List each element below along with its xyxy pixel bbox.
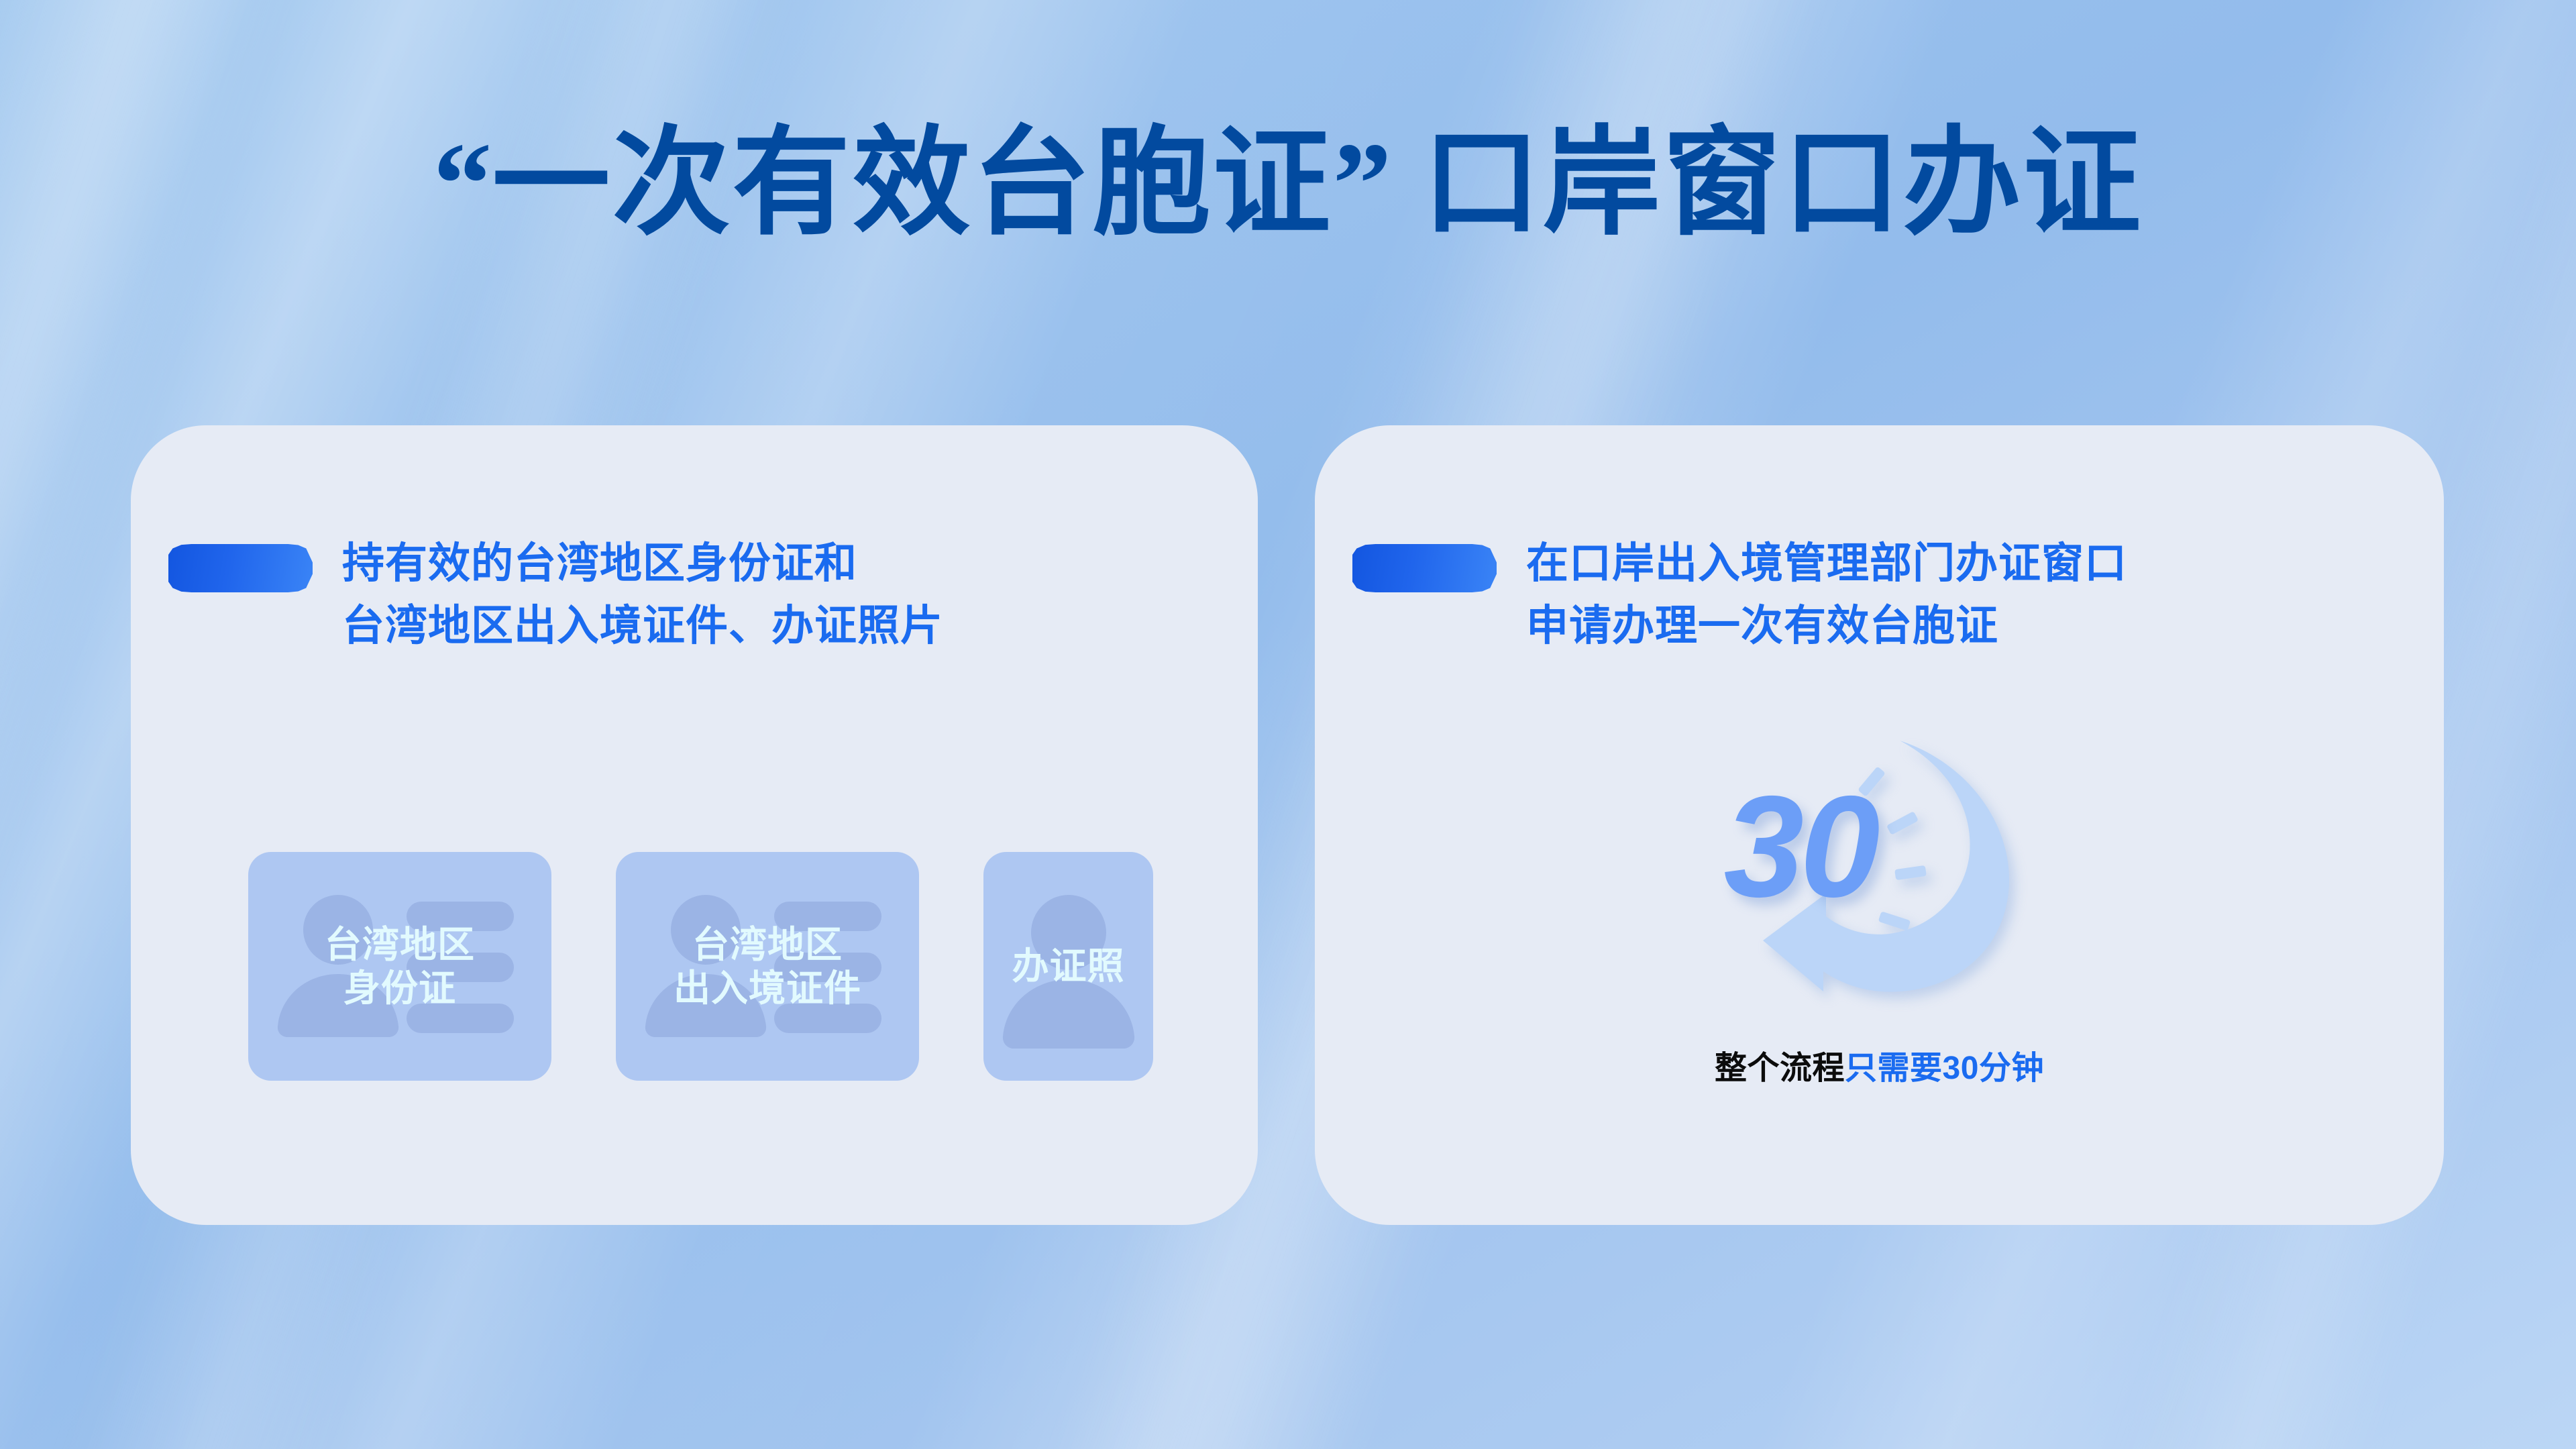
procedure-heading: 在口岸出入境管理部门办证窗口 申请办理一次有效台胞证 (1526, 533, 2127, 657)
document-tile-taiwan-id-card[interactable]: 台湾地区 身份证 (248, 852, 551, 1081)
poster-canvas: “一次有效台胞证”口岸窗口办证 持有效的台湾地区身份证和 台湾地区出入境证件、办… (0, 0, 2576, 1449)
document-tile-taiwan-travel-document[interactable]: 台湾地区 出入境证件 (616, 852, 919, 1081)
document-tile-label: 办证照 (1012, 945, 1124, 988)
procedure-heading-line-2: 申请办理一次有效台胞证 (1526, 595, 2127, 657)
arrow-tag-badge-icon (168, 544, 313, 592)
title-open-quote: “ (433, 119, 492, 250)
document-tile-id-photo[interactable]: 办证照 (983, 852, 1153, 1081)
document-tile-label: 台湾地区 身份证 (325, 923, 475, 1010)
timer-number: 30 (1724, 774, 1876, 918)
title-rest: 口岸窗口办证 (1423, 117, 2143, 249)
procedure-heading-row: 在口岸出入境管理部门办证窗口 申请办理一次有效台胞证 (1315, 533, 2444, 657)
requirements-heading-row: 持有效的台湾地区身份证和 台湾地区出入境证件、办证照片 (131, 533, 1258, 657)
card-requirements: 持有效的台湾地区身份证和 台湾地区出入境证件、办证照片 台湾地区 身份证 (131, 425, 1258, 1225)
document-tile-list: 台湾地区 身份证 台湾地区 出入境证件 (248, 852, 1153, 1081)
timer-graphic: 30 (1315, 729, 2444, 997)
timer-caption-highlight: 只需要30分钟 (1845, 1051, 2044, 1086)
requirements-heading-line-2: 台湾地区出入境证件、办证照片 (342, 595, 943, 657)
timer-caption: 整个流程只需要30分钟 (1315, 1041, 2444, 1088)
procedure-heading-line-1: 在口岸出入境管理部门办证窗口 (1526, 533, 2127, 595)
requirements-heading: 持有效的台湾地区身份证和 台湾地区出入境证件、办证照片 (342, 533, 943, 657)
timer-caption-prefix: 整个流程 (1715, 1051, 1845, 1086)
page-title: “一次有效台胞证”口岸窗口办证 (0, 119, 2576, 248)
document-tile-label: 台湾地区 出入境证件 (674, 923, 861, 1010)
arrow-tag-badge-icon (1352, 544, 1497, 592)
card-procedure: 在口岸出入境管理部门办证窗口 申请办理一次有效台胞证 (1315, 425, 2444, 1225)
requirements-heading-line-1: 持有效的台湾地区身份证和 (342, 533, 943, 595)
title-close-quote: ” (1333, 119, 1392, 250)
title-quoted-term: 一次有效台胞证 (492, 117, 1332, 249)
